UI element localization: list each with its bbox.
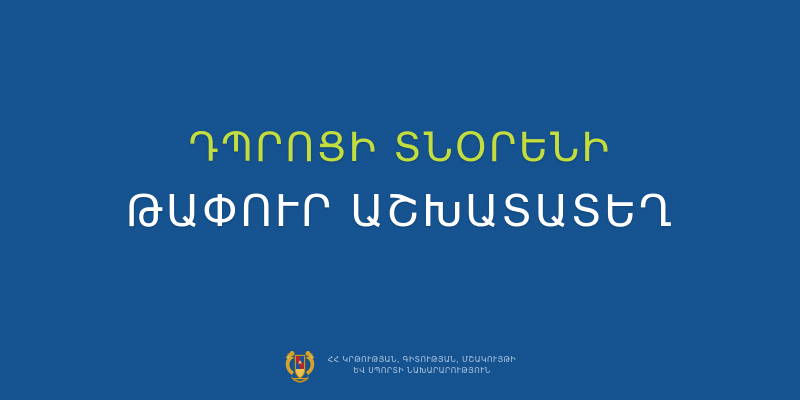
armenia-coat-of-arms-icon <box>284 348 316 384</box>
ministry-name-line-1: ՀՀ ԿՐԹՈՒԹՅԱՆ, ԳԻՏՈՒԹՅԱՆ, ՄՇԱԿՈՒՅԹԻ <box>328 355 517 366</box>
headline-line-primary: ԴՊՐՈՑԻ ՏՆՕՐԵՆԻ <box>0 128 800 168</box>
announcement-banner: ԴՊՐՈՑԻ ՏՆՕՐԵՆԻ ԹԱՓՈՒՐ ԱՇԽԱՏԱՏԵՂ <box>0 0 800 400</box>
ministry-lockup: ՀՀ ԿՐԹՈՒԹՅԱՆ, ԳԻՏՈՒԹՅԱՆ, ՄՇԱԿՈՒՅԹԻ ԵՎ ՍՊ… <box>0 340 800 392</box>
headline-block: ԴՊՐՈՑԻ ՏՆՕՐԵՆԻ ԹԱՓՈՒՐ ԱՇԽԱՏԱՏԵՂ <box>0 128 800 234</box>
ministry-name-line-2: ԵՎ ՍՊՈՐՏԻ ՆԱԽԱՐԱՐՈՒԹՅՈՒՆ <box>353 366 491 377</box>
headline-line-secondary: ԹԱՓՈՒՐ ԱՇԽԱՏԱՏԵՂ <box>0 190 800 234</box>
ministry-name: ՀՀ ԿՐԹՈՒԹՅԱՆ, ԳԻՏՈՒԹՅԱՆ, ՄՇԱԿՈՒՅԹԻ ԵՎ ՍՊ… <box>328 355 517 377</box>
